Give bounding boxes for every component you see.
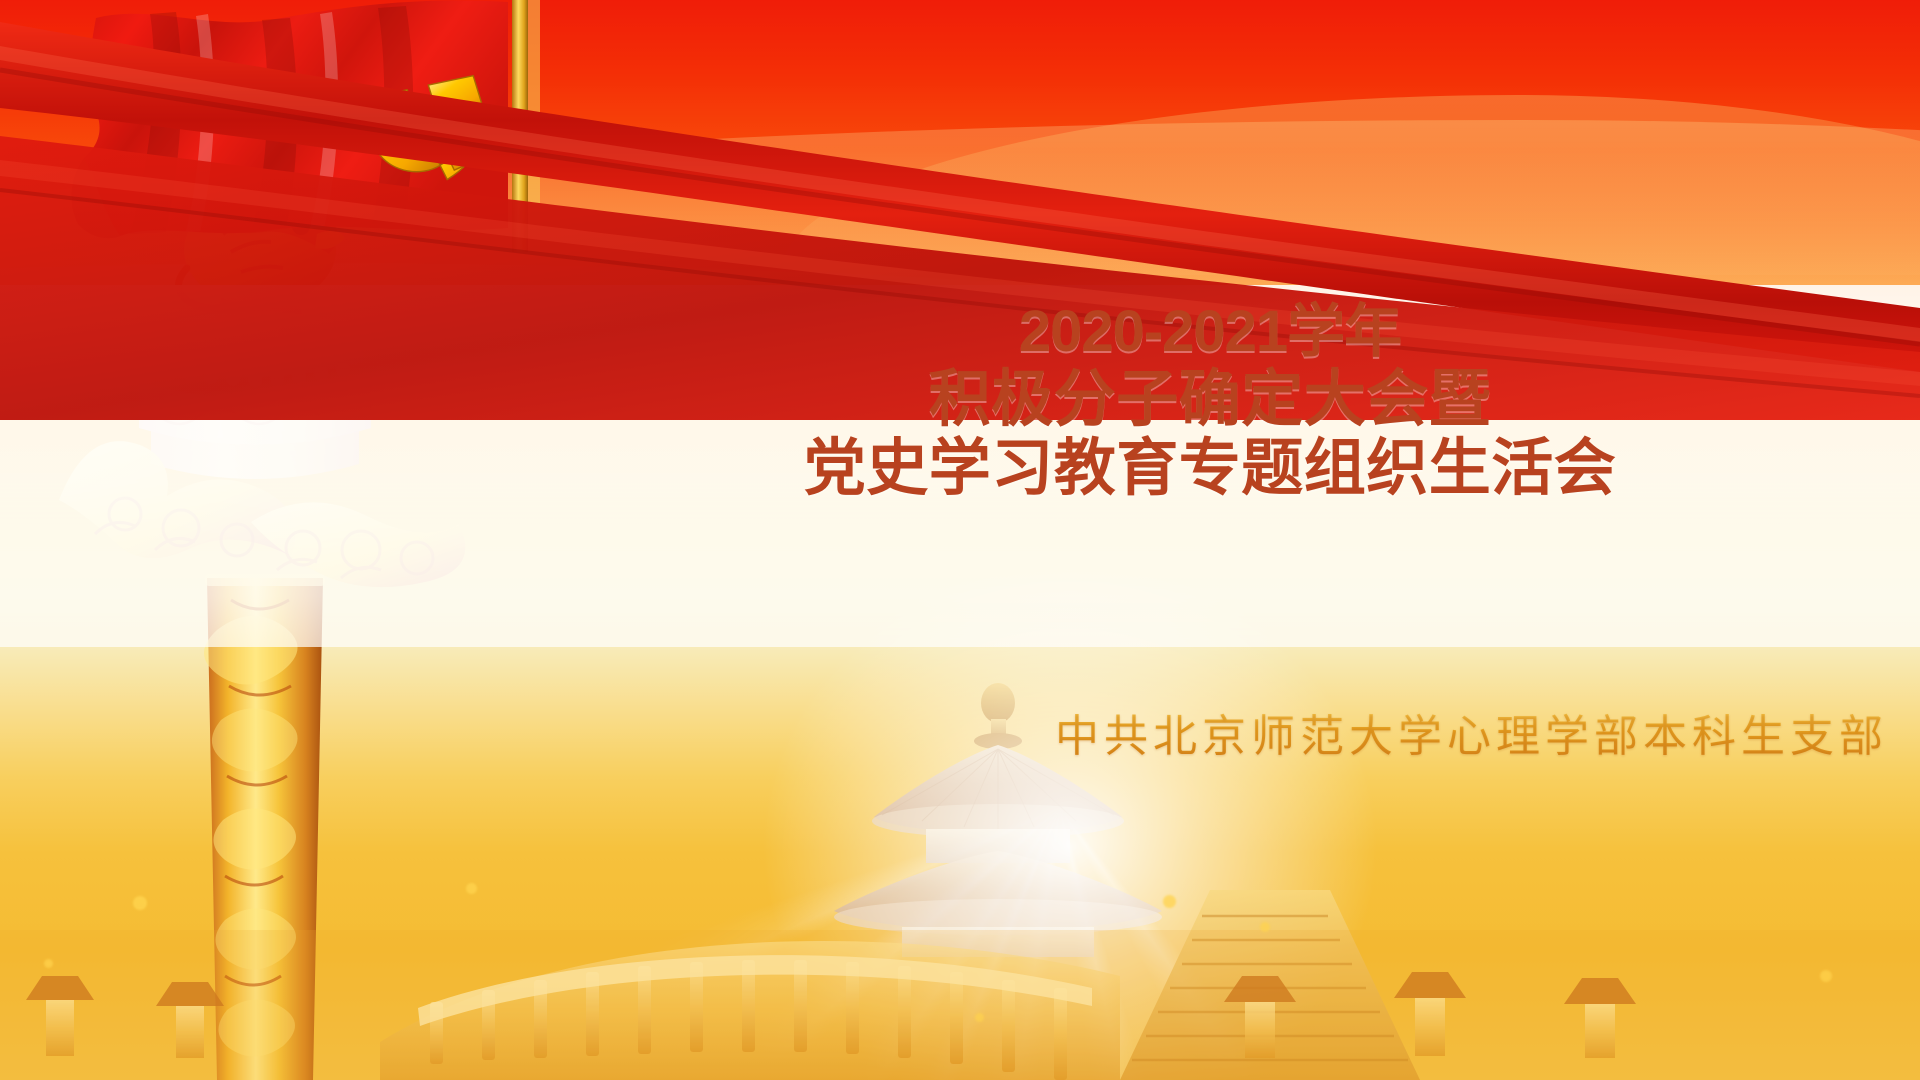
sparkle-dot <box>133 896 147 910</box>
organization-subtitle: 中共北京师范大学心理学部本科生支部 <box>1055 700 1888 764</box>
title-line-meeting-name: 积极分子确定大会暨 <box>620 365 1800 434</box>
title-line-academic-year: 2020-2021学年 <box>620 300 1800 365</box>
title-block: 2020-2021学年 积极分子确定大会暨 党史学习教育专题组织生活会 <box>620 300 1800 504</box>
sparkle-dot <box>1820 970 1832 982</box>
sparkle-dot <box>1260 922 1270 932</box>
palace-stairs-balustrade <box>0 780 1920 1080</box>
sparkle-dot <box>466 883 477 894</box>
sparkle-dot <box>1163 895 1176 908</box>
sparkle-dot <box>44 959 53 968</box>
sparkle-dot <box>975 1013 984 1022</box>
title-line-session-name: 党史学习教育专题组织生活会 <box>620 434 1800 503</box>
presentation-title-slide: 2020-2021学年 积极分子确定大会暨 党史学习教育专题组织生活会 中共北京… <box>0 0 1920 1080</box>
